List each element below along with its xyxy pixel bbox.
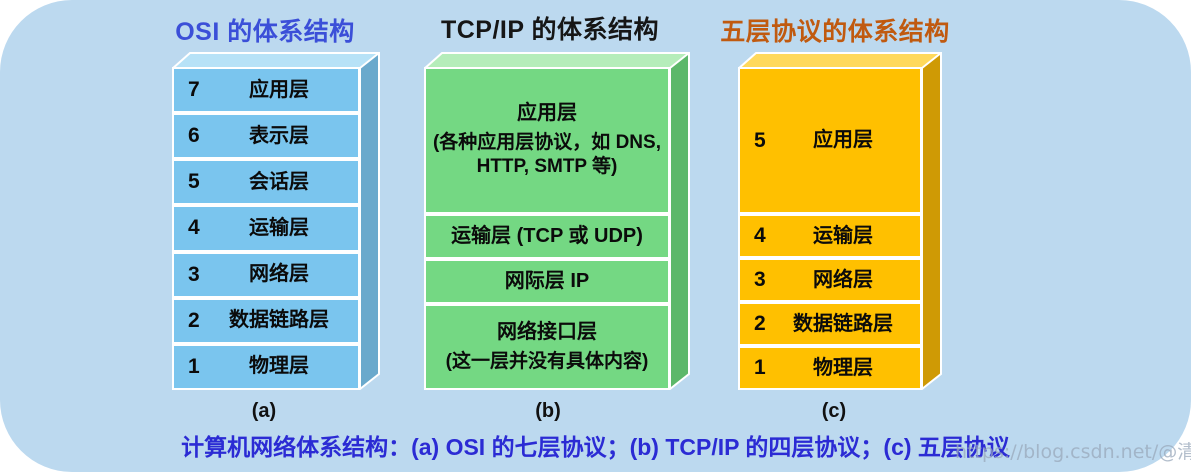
tcpip-layer-application-label: 应用层 (各种应用层协议，如 DNS, HTTP, SMTP 等)	[426, 102, 668, 179]
figure-label-c: (c)	[794, 400, 874, 423]
osi-layer-4[interactable]: 4 运输层	[172, 205, 360, 251]
osi-layer-4-label: 运输层	[174, 217, 358, 240]
tcpip-layer-internet[interactable]: 网际层 IP	[424, 259, 670, 304]
tcpip-layer-internet-label: 网际层 IP	[426, 270, 668, 293]
column-title-tcpip: TCP/IP 的体系结构	[415, 10, 685, 46]
tcpip-layer-stack: 应用层 (各种应用层协议，如 DNS, HTTP, SMTP 等) 运输层 (T…	[424, 52, 690, 390]
osi-layer-7[interactable]: 7 应用层	[172, 67, 360, 113]
osi-layer-1[interactable]: 1 物理层	[172, 344, 360, 390]
tcpip-application-title: 应用层	[517, 102, 577, 124]
five-layer-4-number: 4	[754, 224, 766, 248]
diagram-canvas: OSI 的体系结构 TCP/IP 的体系结构 五层协议的体系结构 7 应用层 6…	[0, 0, 1191, 472]
five-layer-front-face: 5 应用层 4 运输层 3 网络层 2 数据链路层 1 物理层	[738, 67, 922, 390]
watermark-text: https://blog.csdn.net/@清-import-某人	[955, 437, 1191, 464]
figure-label-b: (b)	[508, 400, 588, 423]
column-title-osi: OSI 的体系结构	[155, 12, 375, 48]
osi-layer-5-label: 会话层	[174, 171, 358, 194]
osi-layer-7-number: 7	[188, 78, 200, 102]
tcpip-front-face: 应用层 (各种应用层协议，如 DNS, HTTP, SMTP 等) 运输层 (T…	[424, 67, 670, 390]
osi-layer-4-number: 4	[188, 216, 200, 240]
tcpip-box-right-face	[668, 52, 692, 390]
osi-layer-5-number: 5	[188, 170, 200, 194]
osi-layer-2-label: 数据链路层	[174, 309, 358, 332]
osi-box-right-face	[358, 52, 382, 390]
tcpip-layer-transport[interactable]: 运输层 (TCP 或 UDP)	[424, 214, 670, 259]
osi-layer-3-number: 3	[188, 263, 200, 287]
five-layer-5[interactable]: 5 应用层	[738, 67, 922, 214]
five-layer-3-number: 3	[754, 268, 766, 292]
tcpip-layer-application[interactable]: 应用层 (各种应用层协议，如 DNS, HTTP, SMTP 等)	[424, 67, 670, 214]
tcpip-network-interface-title: 网络接口层	[497, 321, 597, 343]
column-title-five-layer: 五层协议的体系结构	[700, 12, 970, 48]
tcpip-application-subtitle: (各种应用层协议，如 DNS, HTTP, SMTP 等)	[426, 131, 668, 179]
five-layer-1[interactable]: 1 物理层	[738, 346, 922, 390]
osi-layer-6-label: 表示层	[174, 125, 358, 148]
osi-layer-5[interactable]: 5 会话层	[172, 159, 360, 205]
five-layer-4-label: 运输层	[740, 225, 920, 248]
five-layer-2[interactable]: 2 数据链路层	[738, 302, 922, 346]
osi-layer-2[interactable]: 2 数据链路层	[172, 298, 360, 344]
osi-layer-2-number: 2	[188, 309, 200, 333]
figure-label-a: (a)	[224, 400, 304, 423]
five-layer-box-top-face	[738, 52, 942, 68]
five-layer-1-number: 1	[754, 356, 766, 380]
osi-box-top-face	[172, 52, 380, 68]
five-layer-5-label: 应用层	[740, 129, 920, 152]
tcpip-layer-transport-label: 运输层 (TCP 或 UDP)	[426, 225, 668, 248]
five-layer-1-label: 物理层	[740, 357, 920, 380]
five-layer-2-number: 2	[754, 312, 766, 336]
osi-layer-6-number: 6	[188, 124, 200, 148]
osi-layer-stack: 7 应用层 6 表示层 5 会话层 4 运输层 3 网络层 2 数据链路层	[172, 52, 380, 390]
tcpip-layer-network-interface[interactable]: 网络接口层 (这一层并没有具体内容)	[424, 304, 670, 390]
five-layer-5-number: 5	[754, 129, 766, 153]
osi-layer-3-label: 网络层	[174, 263, 358, 286]
five-layer-2-label: 数据链路层	[740, 313, 920, 336]
five-layer-3-label: 网络层	[740, 269, 920, 292]
osi-layer-7-label: 应用层	[174, 79, 358, 102]
tcpip-network-interface-subtitle: (这一层并没有具体内容)	[426, 350, 668, 374]
tcpip-layer-network-interface-label: 网络接口层 (这一层并没有具体内容)	[426, 321, 668, 374]
osi-layer-1-label: 物理层	[174, 355, 358, 378]
osi-layer-3[interactable]: 3 网络层	[172, 252, 360, 298]
osi-layer-1-number: 1	[188, 355, 200, 379]
five-layer-box-right-face	[920, 52, 944, 390]
osi-front-face: 7 应用层 6 表示层 5 会话层 4 运输层 3 网络层 2 数据链路层	[172, 67, 360, 390]
five-layer-4[interactable]: 4 运输层	[738, 214, 922, 258]
five-layer-stack: 5 应用层 4 运输层 3 网络层 2 数据链路层 1 物理层	[738, 52, 942, 390]
osi-layer-6[interactable]: 6 表示层	[172, 113, 360, 159]
tcpip-box-top-face	[424, 52, 690, 68]
five-layer-3[interactable]: 3 网络层	[738, 258, 922, 302]
